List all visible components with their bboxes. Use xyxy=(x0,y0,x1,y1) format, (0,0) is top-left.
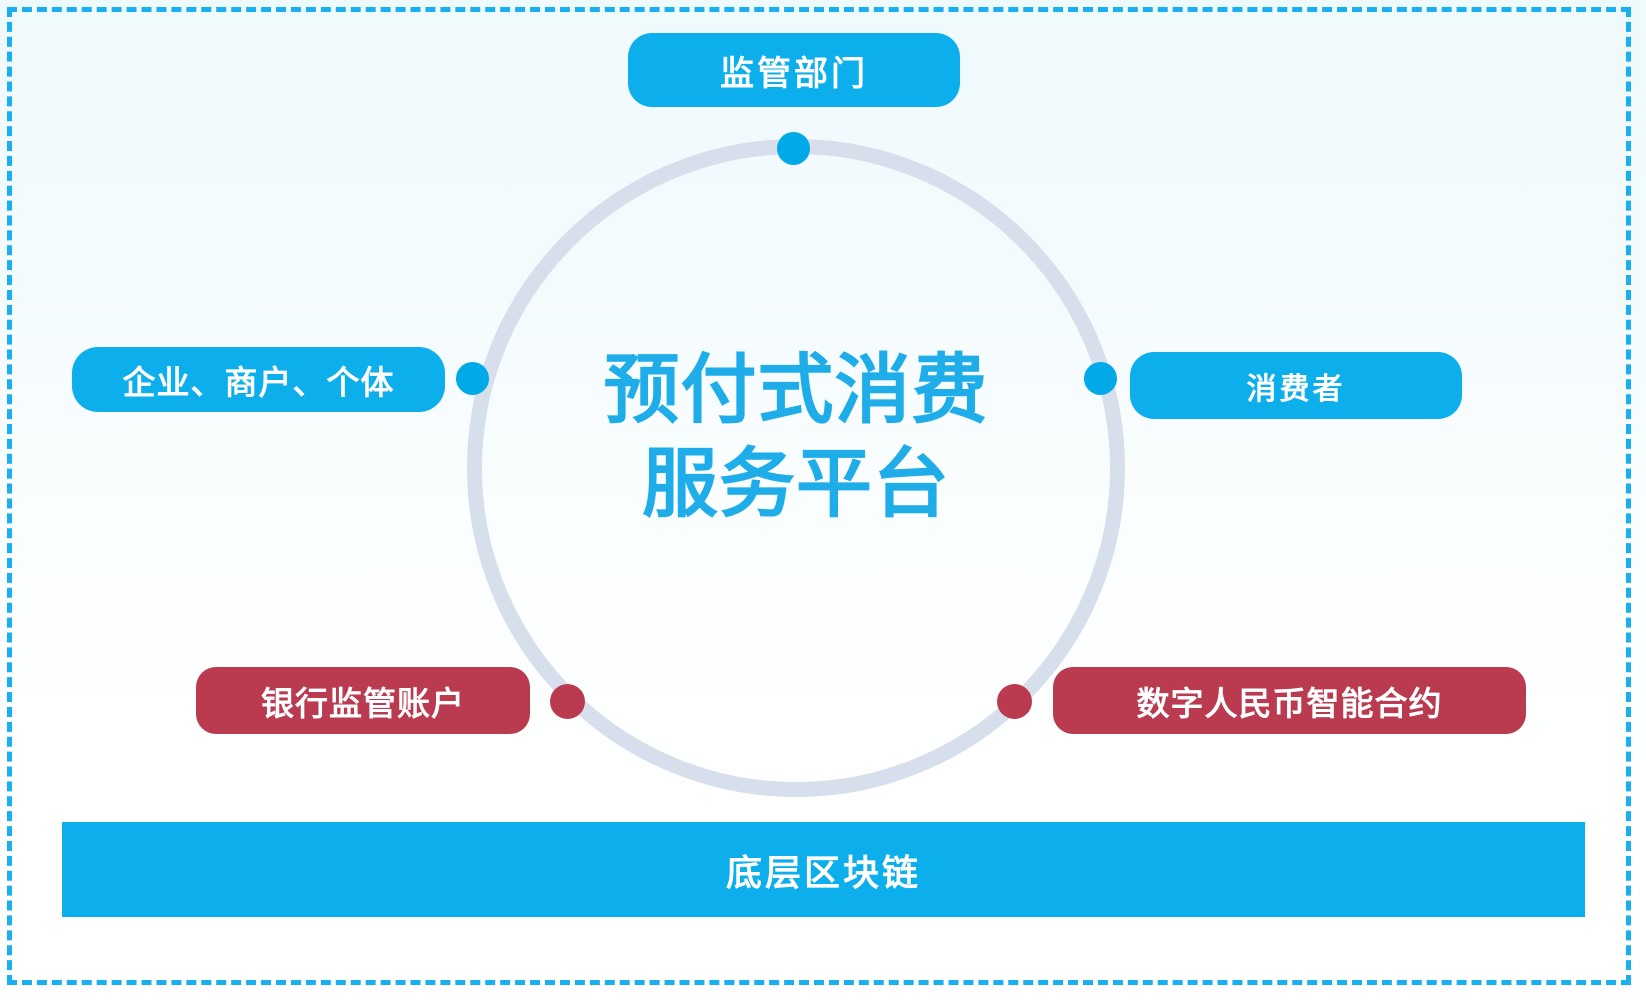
diagram-canvas: 预付式消费 服务平台 监管部门 企业、商户、个体 消费者 银行监管账户 数字人民… xyxy=(0,0,1646,1000)
node-dot-regulator xyxy=(777,132,810,165)
node-label-bank-account[interactable]: 银行监管账户 xyxy=(196,667,530,734)
node-dot-smart-contract xyxy=(997,684,1032,719)
node-dot-consumers xyxy=(1084,362,1117,395)
node-label-regulator[interactable]: 监管部门 xyxy=(628,33,960,107)
center-title-line-1: 预付式消费 xyxy=(546,344,1046,438)
foundation-bar-blockchain[interactable]: 底层区块链 xyxy=(62,822,1585,917)
center-title-line-2: 服务平台 xyxy=(546,438,1046,532)
node-label-businesses[interactable]: 企业、商户、个体 xyxy=(72,347,445,412)
node-dot-bank-account xyxy=(550,684,585,719)
node-label-smart-contract[interactable]: 数字人民币智能合约 xyxy=(1053,667,1526,734)
node-dot-businesses xyxy=(456,362,489,395)
center-title: 预付式消费 服务平台 xyxy=(546,344,1046,532)
node-label-consumers[interactable]: 消费者 xyxy=(1130,352,1462,419)
